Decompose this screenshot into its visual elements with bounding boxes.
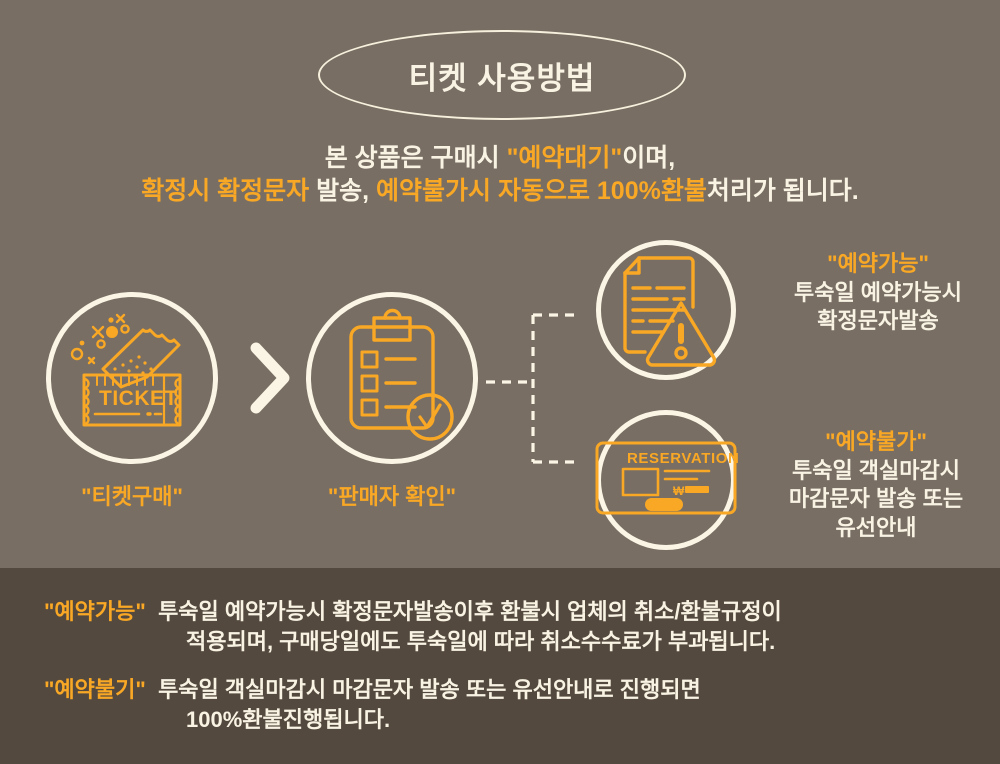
subtitle-seg: 처리가 됩니다. bbox=[707, 177, 859, 205]
subtitle-line-1: 본 상품은 구매시 "예약대기"이며, bbox=[0, 142, 1000, 175]
amount-bar bbox=[685, 486, 709, 493]
branch-unavailable-label: "예약불가" 투숙일 객실마감시 마감문자 발송 또는 유선안내 bbox=[752, 428, 1000, 542]
step-clipboard-circle bbox=[306, 292, 478, 464]
caption-clipboard: "판매자 확인" bbox=[302, 479, 482, 511]
page-title: 티켓 사용방법 bbox=[409, 53, 596, 98]
reservation-icon-label: RESERVATION bbox=[627, 450, 739, 467]
caption-ticket: "티켓구매" bbox=[42, 479, 222, 511]
note-available-body-1: 투숙일 예약가능시 확정문자발송이후 환불시 업체의 취소/환불규정이 bbox=[158, 599, 782, 624]
note-unavailable-body-1: 투숙일 객실마감시 마감문자 발송 또는 유선안내로 진행되면 bbox=[158, 677, 701, 702]
notes-section: "예약가능" 투숙일 예약가능시 확정문자발송이후 환불시 업체의 취소/환불규… bbox=[0, 568, 1000, 764]
branch-available-label: "예약가능" 투숙일 예약가능시 확정문자발송 bbox=[756, 250, 1000, 336]
note-unavailable-line-2: 100%환불진행됩니다. bbox=[44, 705, 701, 735]
branch-available-line-1: 투숙일 예약가능시 bbox=[756, 279, 1000, 308]
subtitle-seg-highlight: 확정시 확정문자 bbox=[141, 177, 309, 205]
branch-unavailable-line-2: 마감문자 발송 또는 bbox=[752, 485, 1000, 514]
subtitle-seg: 발송, bbox=[309, 177, 376, 205]
note-available-tag: "예약가능" bbox=[44, 599, 146, 624]
branch-available-circle bbox=[596, 240, 736, 380]
branch-unavailable-line-1: 투숙일 객실마감시 bbox=[752, 457, 1000, 486]
subtitle-block: 본 상품은 구매시 "예약대기"이며, 확정시 확정문자 발송, 예약불가시 자… bbox=[0, 142, 1000, 208]
subtitle-seg: 본 상품은 구매시 bbox=[325, 144, 507, 172]
branch-unavailable-circle: RESERVATION ₩ bbox=[596, 410, 736, 550]
note-available: "예약가능" 투숙일 예약가능시 확정문자발송이후 환불시 업체의 취소/환불규… bbox=[44, 597, 782, 656]
branch-unavailable-line-3: 유선안내 bbox=[752, 514, 1000, 543]
note-unavailable-tag: "예약불기" bbox=[44, 677, 146, 702]
flow-connector-lines bbox=[480, 290, 610, 485]
subtitle-seg-highlight: 예약불가시 자동으로 100%환불 bbox=[376, 177, 707, 205]
note-unavailable-line-1: "예약불기" 투숙일 객실마감시 마감문자 발송 또는 유선안내로 진행되면 bbox=[44, 675, 701, 705]
step-ticket-circle: TICKET bbox=[46, 292, 218, 464]
subtitle-line-2: 확정시 확정문자 발송, 예약불가시 자동으로 100%환불처리가 됩니다. bbox=[0, 175, 1000, 208]
won-symbol-icon: ₩ bbox=[673, 484, 685, 498]
card-button bbox=[645, 498, 683, 511]
note-available-line-1: "예약가능" 투숙일 예약가능시 확정문자발송이후 환불시 업체의 취소/환불규… bbox=[44, 597, 782, 627]
ticket-icon: TICKET bbox=[51, 297, 213, 459]
chevron-right-icon bbox=[243, 338, 299, 418]
ticket-icon-label: TICKET bbox=[99, 387, 178, 410]
title-ellipse: 티켓 사용방법 bbox=[318, 30, 686, 120]
note-unavailable: "예약불기" 투숙일 객실마감시 마감문자 발송 또는 유선안내로 진행되면 1… bbox=[44, 675, 701, 734]
infographic-canvas: 티켓 사용방법 본 상품은 구매시 "예약대기"이며, 확정시 확정문자 발송,… bbox=[0, 0, 1000, 764]
branch-available-line-2: 확정문자발송 bbox=[756, 307, 1000, 336]
document-warning-icon bbox=[601, 245, 731, 375]
reservation-card-icon: RESERVATION ₩ bbox=[601, 415, 731, 545]
subtitle-seg-highlight: "예약대기" bbox=[507, 144, 623, 172]
subtitle-seg: 이며, bbox=[622, 144, 675, 172]
dashed-connector-icon bbox=[480, 290, 610, 485]
branch-available-header: "예약가능" bbox=[756, 250, 1000, 279]
clipboard-checklist-icon bbox=[311, 297, 473, 459]
note-available-line-2: 적용되며, 구매당일에도 투숙일에 따라 취소수수료가 부과됩니다. bbox=[44, 627, 782, 657]
flow-arrow bbox=[243, 338, 299, 418]
branch-unavailable-header: "예약불가" bbox=[752, 428, 1000, 457]
